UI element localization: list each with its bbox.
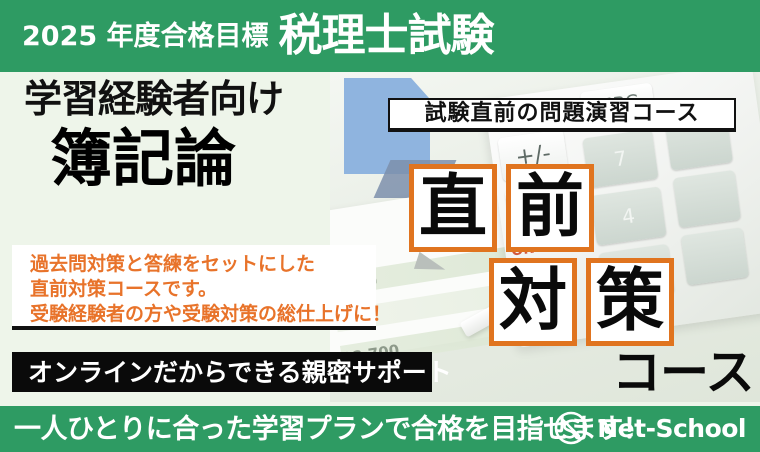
brand-logo: Net-School (553, 410, 746, 446)
kanji-box-3: 対 (489, 258, 577, 346)
support-bar: オンラインだからできる親密サポート (12, 352, 432, 392)
kanji-box-4: 策 (586, 258, 674, 346)
headline-lead: 学習経験者向け (24, 80, 283, 118)
promo-banner: 2025 年度合格目標 税理士試験 ,200 28,700 21% 35% 3.… (0, 0, 760, 452)
header-exam-title: 税理士試験 (279, 14, 494, 58)
description-line: 受験経験者の方や受験対策の総仕上げに！ (30, 302, 376, 327)
net-school-circle-s-icon (553, 410, 589, 446)
calculator-key-blank (673, 170, 741, 228)
headline-subject: 簿記論 (50, 128, 236, 190)
course-type-pill: 試験直前の問題演習コース (388, 98, 736, 132)
description-card: 過去問対策と答練をセットにした 直前対策コースです。 受験経験者の方や受験対策の… (12, 245, 376, 330)
support-bar-text: オンラインだからできる親密サポート (28, 360, 452, 385)
course-type-text: 試験直前の問題演習コース (425, 103, 700, 125)
kanji-box-2: 前 (506, 164, 594, 252)
kanji-box-1: 直 (409, 164, 497, 252)
description-line: 過去問対策と答練をセットにした (30, 252, 376, 277)
calculator-key-blank (681, 227, 749, 285)
course-suffix-text: コース (612, 348, 754, 397)
description-line: 直前対策コースです。 (30, 277, 376, 302)
header-year-goal: 2025 年度合格目標 (22, 23, 269, 50)
brand-logo-text: Net-School (597, 416, 746, 441)
header-bar: 2025 年度合格目標 税理士試験 (0, 0, 760, 72)
calculator-key-4: 4 (590, 186, 666, 245)
